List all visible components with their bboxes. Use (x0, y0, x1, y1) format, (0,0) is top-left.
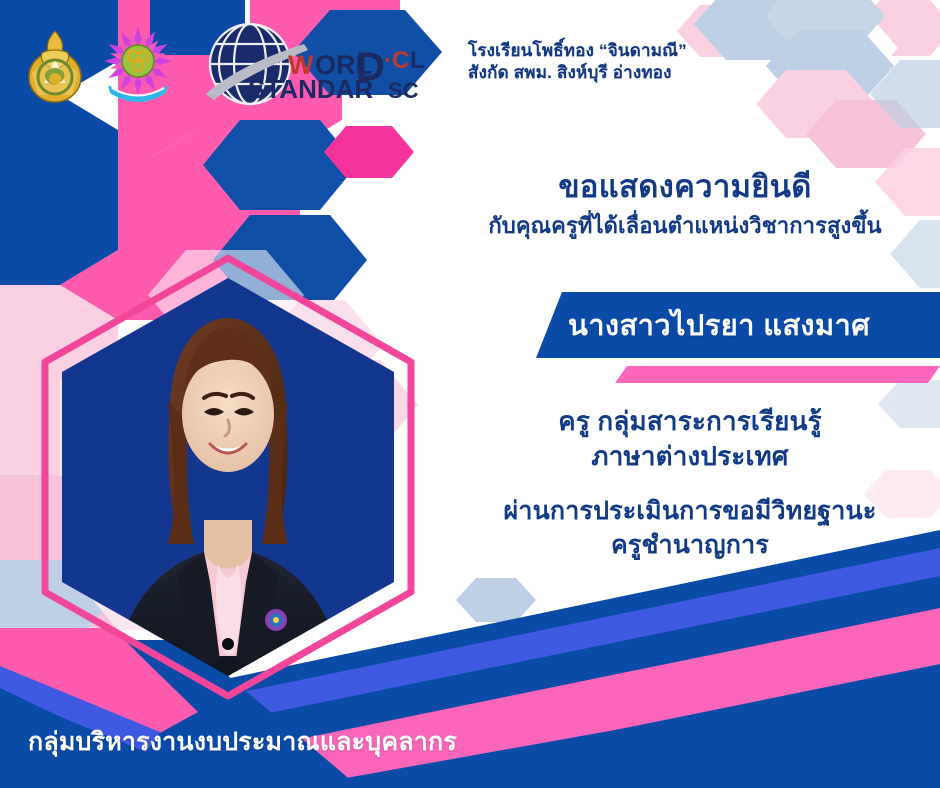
honoree-photo (28, 252, 428, 702)
honoree-role: ครู กลุ่มสาระการเรียนรู้ ภาษาต่างประเทศ (440, 404, 940, 474)
name-banner-pink-accent (615, 366, 940, 383)
honoree-name-banner: นางสาวไปรยา แสงมาศ (520, 292, 940, 396)
congratulation-headline: ขอแสดงความยินดี (430, 168, 940, 207)
role-line-1: ครู กลุ่มสาระการเรียนรู้ (440, 404, 940, 439)
status-line-1: ผ่านการประเมินการขอมีวิทยฐานะ (440, 494, 940, 528)
status-line-2: ครูชำนาญการ (440, 528, 940, 562)
svg-text:SC: SC (388, 78, 419, 103)
role-line-2: ภาษาต่างประเทศ (440, 439, 940, 474)
obec-royal-emblem-icon (22, 25, 88, 105)
school-lotus-emblem-icon (98, 25, 178, 105)
honoree-status: ผ่านการประเมินการขอมีวิทยฐานะ ครูชำนาญกา… (440, 494, 940, 562)
congratulation-subline: กับคุณครูที่ได้เลื่อนตำแหน่งวิชาการสูงขึ… (430, 211, 940, 241)
header-logos: W ORL D ·C L STANDAR SC (22, 22, 426, 108)
svg-text:L: L (410, 47, 425, 74)
svg-text:·C: ·C (384, 47, 409, 74)
svg-text:STANDAR: STANDAR (248, 74, 373, 104)
school-name: โรงเรียนโพธิ์ทอง “จินดามณี” (468, 40, 687, 62)
footer-department: กลุ่มบริหารงานงบประมาณและบุคลากร (28, 722, 457, 762)
congratulation-poster: W ORL D ·C L STANDAR SC โรงเรียนโพธิ์ทอง… (0, 0, 940, 788)
world-class-standard-school-logo-icon: W ORL D ·C L STANDAR SC (188, 22, 426, 108)
honoree-name: นางสาวไปรยา แสงมาศ (568, 292, 940, 358)
school-affiliation: สังกัด สพม. สิงห์บุรี อ่างทอง (468, 62, 687, 84)
congratulation-block: ขอแสดงความยินดี กับคุณครูที่ได้เลื่อนตำแ… (430, 168, 940, 240)
school-identity: โรงเรียนโพธิ์ทอง “จินดามณี” สังกัด สพม. … (468, 40, 687, 84)
